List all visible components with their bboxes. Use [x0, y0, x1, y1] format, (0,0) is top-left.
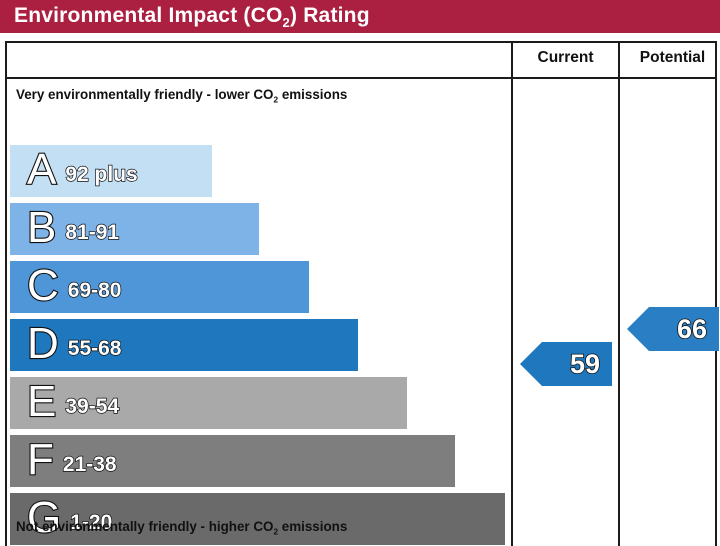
caption-bottom-prefix: Not environmentally friendly - higher CO — [16, 519, 273, 534]
band-row-d: D 55-68 — [10, 319, 358, 371]
band-row-c: C 69-80 — [10, 261, 309, 313]
band-letter-f: F — [27, 438, 54, 482]
band-letter-c: C — [27, 264, 59, 308]
band-range-d: 55-68 — [68, 337, 122, 361]
column-header-potential: Potential — [620, 49, 720, 67]
band-range-a: 92 plus — [65, 163, 137, 187]
caption-top: Very environmentally friendly - lower CO… — [16, 87, 347, 105]
band-row-f: F 21-38 — [10, 435, 455, 487]
band-letter-b: B — [27, 206, 56, 250]
caption-top-suffix: emissions — [278, 87, 347, 102]
band-range-c: 69-80 — [68, 279, 122, 303]
page-title-prefix: Environmental Impact (CO — [14, 4, 283, 27]
caption-top-prefix: Very environmentally friendly - lower CO — [16, 87, 273, 102]
band-letter-a: A — [27, 148, 56, 192]
caption-bottom-suffix: emissions — [278, 519, 347, 534]
band-row-b: B 81-91 — [10, 203, 259, 255]
page-title-suffix: ) Rating — [290, 4, 370, 27]
page-title: Environmental Impact (CO2) Rating — [14, 4, 370, 30]
caption-bottom: Not environmentally friendly - higher CO… — [16, 519, 347, 537]
page-title-subscript: 2 — [283, 15, 290, 30]
band-range-b: 81-91 — [65, 221, 119, 245]
rating-table: Current Potential Very environmentally f… — [5, 41, 717, 546]
column-divider-potential — [618, 43, 620, 546]
current-rating-arrow: 59 — [520, 342, 612, 386]
band-row-a: A 92 plus — [10, 145, 212, 197]
band-range-e: 39-54 — [65, 395, 119, 419]
potential-rating-arrow: 66 — [627, 307, 719, 351]
band-letter-d: D — [27, 322, 59, 366]
band-chart: Very environmentally friendly - lower CO… — [7, 79, 511, 546]
band-row-e: E 39-54 — [10, 377, 407, 429]
column-divider-current — [511, 43, 513, 546]
title-bar: Environmental Impact (CO2) Rating — [0, 0, 720, 33]
potential-rating-value: 66 — [677, 316, 707, 343]
band-letter-e: E — [27, 380, 56, 424]
band-range-f: 21-38 — [63, 453, 117, 477]
column-header-current: Current — [513, 49, 618, 67]
current-rating-value: 59 — [570, 351, 600, 378]
